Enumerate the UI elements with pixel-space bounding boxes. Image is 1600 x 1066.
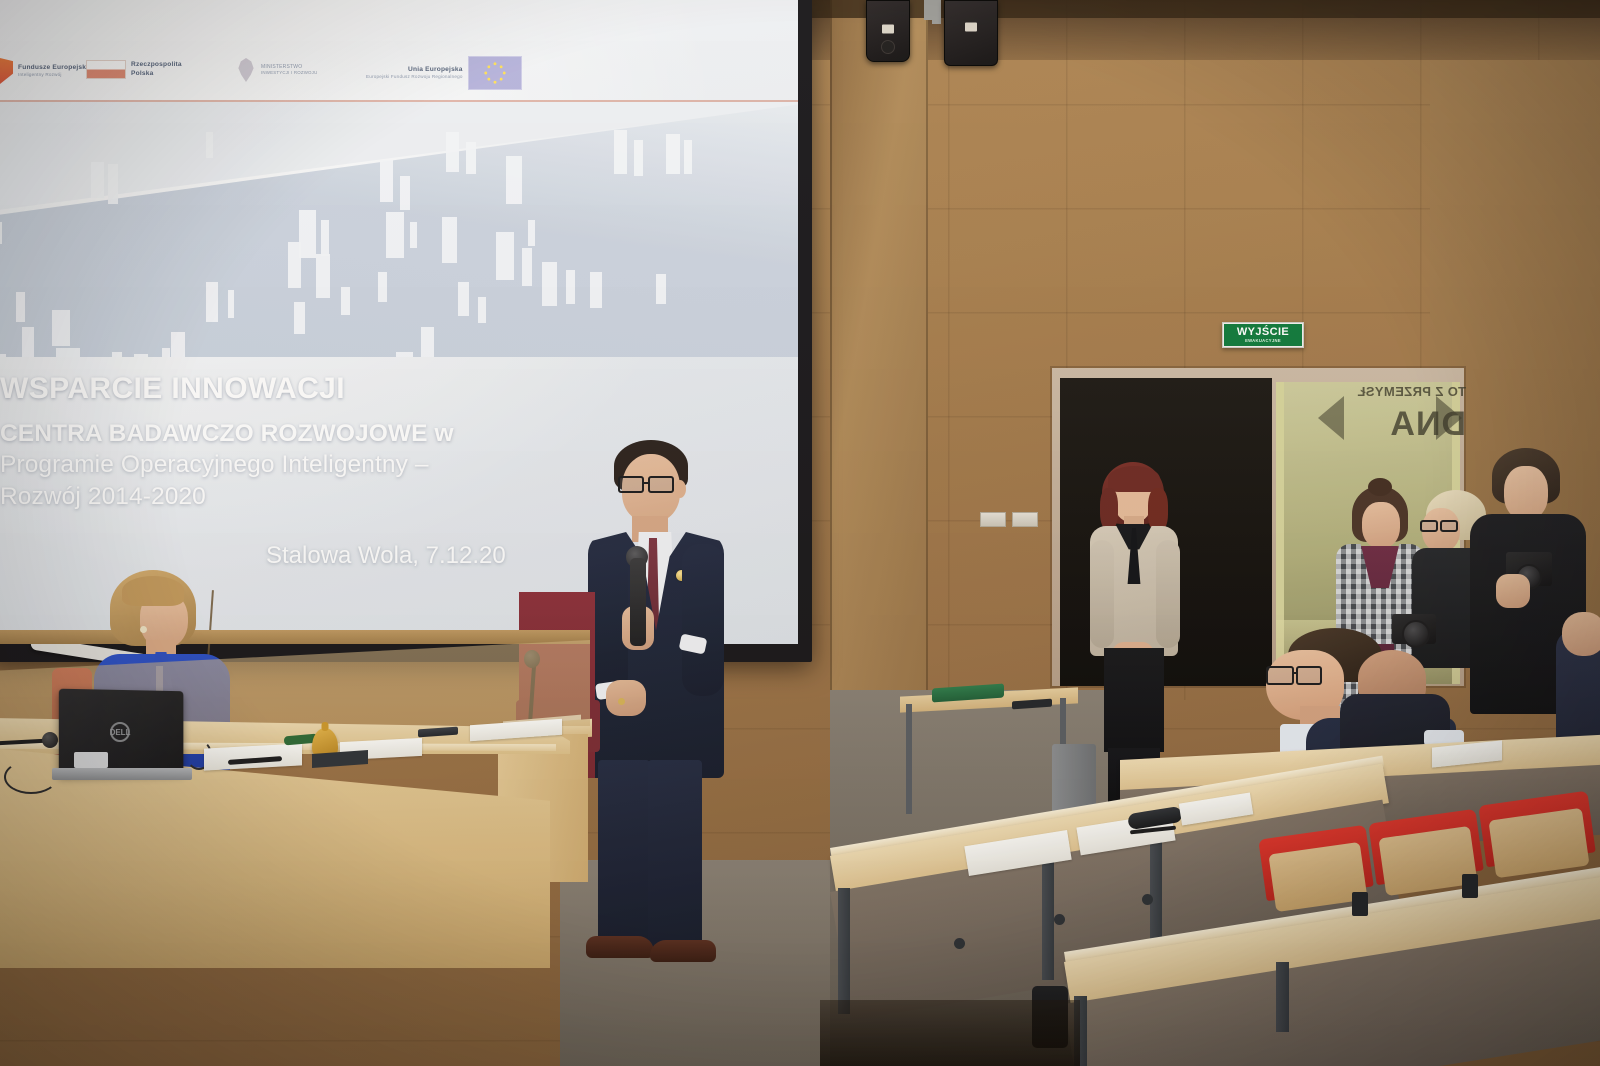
banner-chevron-left [1318,396,1344,440]
shoe-left [586,936,654,958]
hair-side-left [1100,488,1118,530]
wall-speaker-right [944,0,998,66]
head-table-microphone-head [42,732,58,748]
logo-min-sub: INWESTYCJI I ROZWOJU [261,70,317,75]
hand-on-camera [1496,574,1530,608]
logo-rp-name: Rzeczpospolita [131,61,182,69]
glasses-right-lens [648,476,674,493]
audience-desk-leg-middle-2 [1042,854,1054,980]
logo-eu-sub: Europejski Fundusz Rozwoju Regionalnego [366,74,463,80]
dell-logo-icon: DELL [110,722,130,742]
audience-desk-knob-1 [954,938,965,949]
audience-desk-leg-middle-1 [838,888,850,1014]
slide-subtitle-line3: Rozwój 2014-2020 [0,483,206,510]
ear [674,480,686,498]
slide-building-graphic [0,102,798,357]
emergency-exit-sign: WYJŚCIE EWAKUACYJNE [1222,322,1304,348]
black-skirt [1104,648,1164,752]
speaker-driver-icon [881,40,895,54]
glasses-left-lens [618,476,644,493]
exit-sign-label: WYJŚCIE [1237,327,1289,338]
glasses-right-lens [1440,520,1458,532]
logo-eu-name: Unia Europejska [366,66,463,74]
wall-switch-plate-2[interactable] [1012,512,1038,527]
fundusze-europejskie-icon [0,58,13,84]
speaker-bracket-right [932,0,941,24]
hair-bun-icon [1368,478,1392,496]
eu-flag-icon [468,56,522,90]
speaker-bracket-left [924,0,932,20]
arm-right [1156,540,1180,648]
slide-subtitle-line2: Programie Operacyjnego Inteligentny – [0,451,429,478]
glasses-left-lens [1266,666,1294,685]
microphone-body [630,558,646,646]
hand-lower [606,680,646,716]
logo-ministerstwo: MINISTERSTWO INWESTYCJI I ROZWOJU [236,58,317,82]
audience-desk-knob-3 [1142,894,1153,905]
logo-rp-sub: Polska [131,70,182,78]
under-desk-shadow [820,1000,1080,1066]
cable [4,760,58,794]
ring-icon [618,698,625,705]
laptop-base[interactable] [52,768,192,780]
slide-place-date: Stalowa Wola, 7.12.20 [266,542,596,570]
logo-fundusze-europejskie: Fundusze Europejskie Inteligentny Rozwój [0,58,92,84]
speaker-logo-icon [965,22,977,31]
bell-handle [322,722,329,731]
slide-logo-bar: Fundusze Europejskie Inteligentny Rozwój… [0,52,798,108]
laptop-sticker [74,752,108,768]
polish-flag-icon [86,60,126,79]
side-table-leg-left [906,704,912,814]
exit-sign-sublabel: EWAKUACYJNE [1245,339,1281,343]
seat-bracket-2 [1462,874,1478,898]
arm-left-sleeve [682,544,724,696]
speaker-logo-icon [882,24,894,33]
wall-speaker-left [866,0,910,62]
person-partial-far-right-head [1562,612,1600,656]
logo-rzeczpospolita-polska: Rzeczpospolita Polska [86,60,182,79]
eu-stars-icon [484,62,506,84]
arm-left [1090,540,1114,648]
wall-switch-plate-1[interactable] [980,512,1006,527]
logo-fe-name: Fundusze Europejskie [18,64,92,72]
face [1504,466,1548,520]
banner-chevron-right [1436,396,1462,440]
trousers-left [598,760,650,946]
trousers-right [648,760,702,950]
polish-eagle-icon [236,58,256,82]
glasses-bridge [1292,672,1298,674]
glasses-left-lens [1420,520,1438,532]
logo-fe-sub: Inteligentny Rozwój [18,72,92,78]
logo-unia-europejska: Unia Europejska Europejski Fundusz Rozwo… [366,56,522,90]
hair-side-right [1148,488,1168,532]
screenshot-root: Fundusze Europejskie Inteligentny Rozwój… [0,0,1600,1066]
face [1362,502,1400,548]
slide-subtitle: CENTRA BADAWCZO ROZWOJOWE w Programie Op… [0,418,560,512]
earring-icon [140,626,147,633]
seat-bracket-1 [1352,892,1368,916]
wall-column [830,0,928,690]
slide-title: WSPARCIE INNOWACJI [0,372,560,406]
hair-fringe [122,576,184,606]
hair-front [1108,466,1160,492]
shoe-right [650,940,716,962]
slide-subtitle-line1: CENTRA BADAWCZO ROZWOJOWE w [0,420,454,447]
audience-desk-knob-2 [1054,914,1065,925]
audience-desk-leg-lower-2 [1276,962,1289,1032]
glasses-bridge [644,482,650,484]
glasses-right-lens [1296,666,1322,685]
